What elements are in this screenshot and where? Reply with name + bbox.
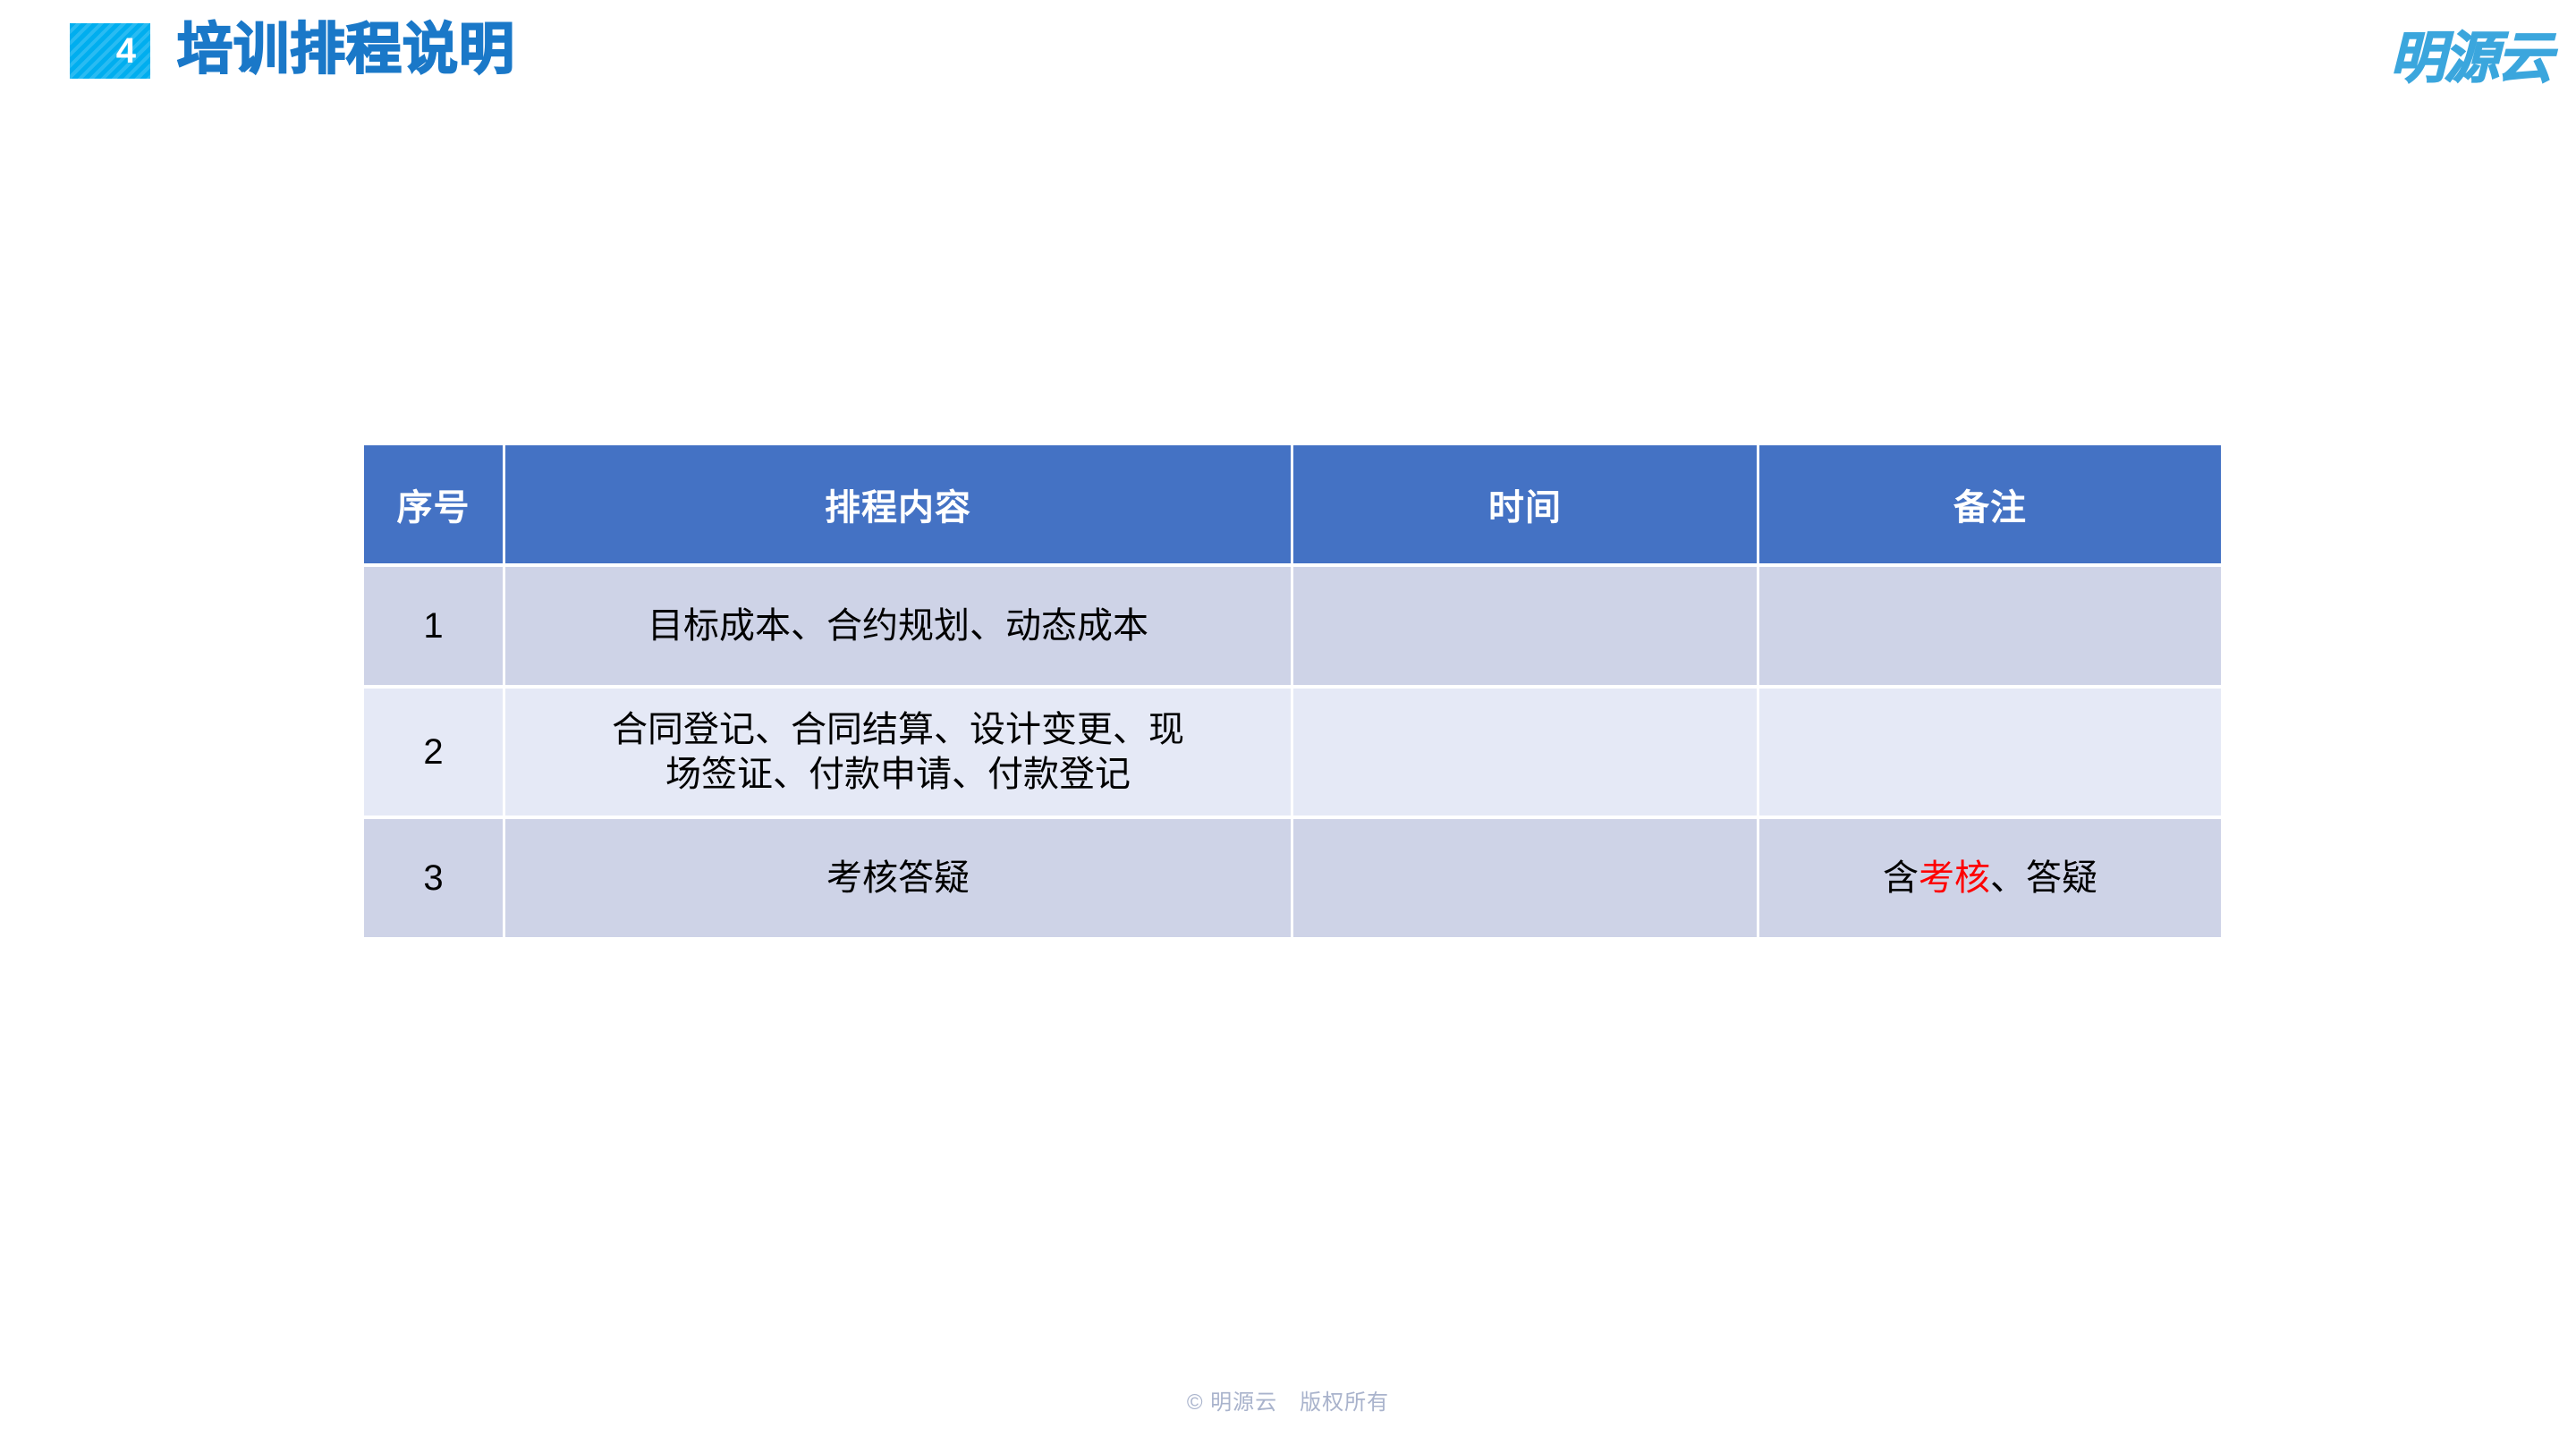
cell-time [1293,689,1757,815]
cell-content: 考核答疑 [505,819,1291,937]
section-number-label: 4 [116,33,150,69]
remark-prefix: 含 [1883,858,1919,898]
brand-logo: 明源云 [2361,20,2551,98]
brand-logo-text: 明源云 [2390,31,2551,87]
remark-highlight: 考核 [1919,858,1990,898]
remark-suffix: 、答疑 [1990,858,2097,898]
column-header-remark: 备注 [1759,445,2221,563]
cell-no: 2 [364,689,503,815]
cell-time [1293,567,1757,685]
slide-header: 4 培训排程说明 明源云 [0,0,2576,116]
column-header-content: 排程内容 [505,445,1291,563]
cell-remark [1759,689,2221,815]
training-schedule-table: 序号 排程内容 时间 备注 1 目标成本、合约规划、动态成本 2 合同登记、合同… [361,442,2224,941]
cell-content: 合同登记、合同结算、设计变更、现 场签证、付款申请、付款登记 [505,689,1291,815]
slide-root: 4 培训排程说明 明源云 序号 排程内容 时间 备注 1 目标成本、合约规划、 [0,0,2576,1445]
content-line-1: 合同登记、合同结算、设计变更、现 [612,710,1184,749]
table-row: 2 合同登记、合同结算、设计变更、现 场签证、付款申请、付款登记 [364,689,2221,815]
cell-remark: 含考核、答疑 [1759,819,2221,937]
content-line-2: 场签证、付款申请、付款登记 [665,755,1131,794]
cell-no: 3 [364,819,503,937]
table-header-row: 序号 排程内容 时间 备注 [364,445,2221,563]
page-title: 培训排程说明 [177,7,515,93]
cell-time [1293,819,1757,937]
cell-no: 1 [364,567,503,685]
cell-content: 目标成本、合约规划、动态成本 [505,567,1291,685]
column-header-no: 序号 [364,445,503,563]
table-row: 3 考核答疑 含考核、答疑 [364,819,2221,937]
copyright-footer: © 明源云 版权所有 [0,1384,2576,1415]
cell-remark [1759,567,2221,685]
column-header-time: 时间 [1293,445,1757,563]
section-number-badge: 4 [70,23,150,79]
table-row: 1 目标成本、合约规划、动态成本 [364,567,2221,685]
